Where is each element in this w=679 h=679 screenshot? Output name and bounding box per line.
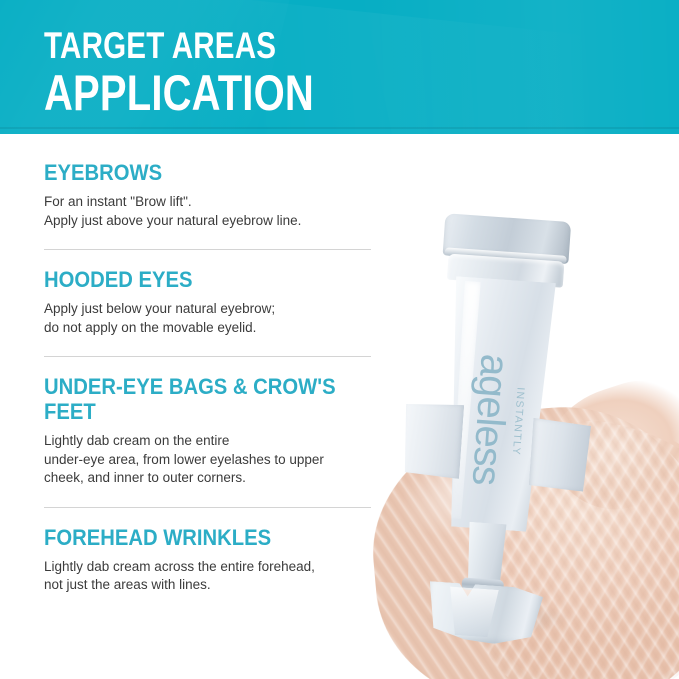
- section-body-forehead-wrinkles: Lightly dab cream across the entire fore…: [44, 558, 384, 595]
- infographic-page: TARGET AREAS APPLICATION EYEBROWS For an…: [0, 0, 679, 679]
- divider-1: [44, 249, 371, 250]
- banner-title-line-1: TARGET AREAS: [44, 26, 314, 66]
- section-forehead-wrinkles: FOREHEAD WRINKLES Lightly dab cream acro…: [44, 525, 384, 595]
- tube-branding: INSTANTLY ageless: [443, 322, 552, 518]
- tube-brand-ageless: ageless: [466, 353, 515, 486]
- product-tube: INSTANTLY ageless: [395, 212, 615, 664]
- banner-bottom-rule: [0, 127, 679, 129]
- section-body-eyebrows: For an instant "Brow lift". Apply just a…: [44, 193, 384, 230]
- section-body-under-eye-bags-crows-feet: Lightly dab cream on the entire under-ey…: [44, 432, 384, 488]
- target-areas-list: EYEBROWS For an instant "Brow lift". App…: [44, 160, 384, 595]
- section-title-hooded-eyes: HOODED EYES: [44, 267, 357, 292]
- banner-title-block: TARGET AREAS APPLICATION: [44, 26, 381, 118]
- section-eyebrows: EYEBROWS For an instant "Brow lift". App…: [44, 160, 384, 230]
- header-banner: TARGET AREAS APPLICATION: [0, 0, 679, 134]
- divider-3: [44, 507, 371, 508]
- section-title-under-eye-bags-crows-feet: UNDER-EYE BAGS & CROW'S FEET: [44, 374, 375, 424]
- section-body-hooded-eyes: Apply just below your natural eyebrow; d…: [44, 300, 384, 337]
- section-title-eyebrows: EYEBROWS: [44, 160, 357, 185]
- divider-2: [44, 356, 371, 357]
- section-title-forehead-wrinkles: FOREHEAD WRINKLES: [44, 525, 357, 550]
- banner-sheen-right: [356, 0, 679, 134]
- tube-neck: [462, 521, 510, 586]
- product-photo: INSTANTLY ageless: [352, 160, 679, 679]
- banner-title-line-2: APPLICATION: [44, 68, 314, 118]
- section-hooded-eyes: HOODED EYES Apply just below your natura…: [44, 267, 384, 337]
- section-under-eye-bags-crows-feet: UNDER-EYE BAGS & CROW'S FEET Lightly dab…: [44, 374, 384, 488]
